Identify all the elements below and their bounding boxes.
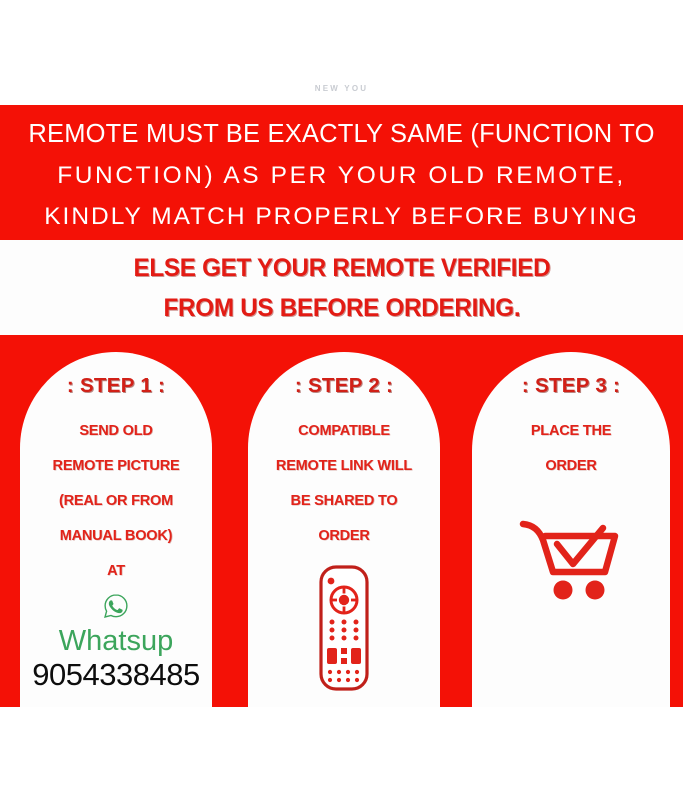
whatsapp-icon [101, 591, 131, 621]
steps-panel: : STEP 1 : SEND OLD REMOTE PICTURE (REAL… [0, 335, 683, 707]
advertisement-page: NEW YOU REMOTE MUST BE EXACTLY SAME (FUN… [0, 0, 683, 800]
step-2-line-2: REMOTE LINK WILL [248, 449, 440, 484]
step-1-line-1: SEND OLD [20, 414, 212, 449]
step-1-body: SEND OLD REMOTE PICTURE (REAL OR FROM MA… [20, 414, 212, 589]
step-3-title: : STEP 3 : [472, 374, 670, 398]
step-3-line-1: PLACE THE [472, 414, 670, 449]
whatsapp-contact-block: Whatsup 9054338485 [20, 591, 212, 693]
step-1-line-5: AT [20, 554, 212, 589]
step-1-line-4: MANUAL BOOK) [20, 519, 212, 554]
step-2-icon-wrap [248, 564, 440, 692]
warning-banner-line-1: REMOTE MUST BE EXACTLY SAME (FUNCTION TO [18, 114, 665, 155]
verify-notice-line-1: ELSE GET YOUR REMOTE VERIFIED [133, 248, 550, 288]
step-card-3: : STEP 3 : PLACE THE ORDER [472, 352, 670, 707]
step-2-title: : STEP 2 : [248, 374, 440, 398]
whatsapp-number[interactable]: 9054338485 [20, 657, 212, 693]
step-3-icon-wrap [472, 514, 670, 610]
warning-banner: REMOTE MUST BE EXACTLY SAME (FUNCTION TO… [0, 105, 683, 240]
remote-control-icon [317, 564, 371, 692]
step-1-line-3: (REAL OR FROM [20, 484, 212, 519]
step-card-1: : STEP 1 : SEND OLD REMOTE PICTURE (REAL… [20, 352, 212, 707]
step-2-line-4: ORDER [248, 519, 440, 554]
warning-banner-line-3: KINDLY MATCH PROPERLY BEFORE BUYING [18, 196, 665, 237]
whatsapp-label[interactable]: Whatsup [20, 623, 212, 659]
step-3-line-2: ORDER [472, 449, 670, 484]
verify-notice: ELSE GET YOUR REMOTE VERIFIED FROM US BE… [0, 240, 683, 335]
step-1-line-2: REMOTE PICTURE [20, 449, 212, 484]
step-2-line-1: COMPATIBLE [248, 414, 440, 449]
step-3-body: PLACE THE ORDER [472, 414, 670, 484]
verify-notice-line-2: FROM US BEFORE ORDERING. [163, 288, 520, 328]
step-2-line-3: BE SHARED TO [248, 484, 440, 519]
step-2-body: COMPATIBLE REMOTE LINK WILL BE SHARED TO… [248, 414, 440, 554]
shopping-cart-check-icon [519, 514, 623, 610]
step-1-title: : STEP 1 : [20, 374, 212, 398]
watermark-text: NEW YOU [0, 84, 683, 93]
step-card-2: : STEP 2 : COMPATIBLE REMOTE LINK WILL B… [248, 352, 440, 707]
warning-banner-line-2: FUNCTION) AS PER YOUR OLD REMOTE, [18, 155, 665, 196]
